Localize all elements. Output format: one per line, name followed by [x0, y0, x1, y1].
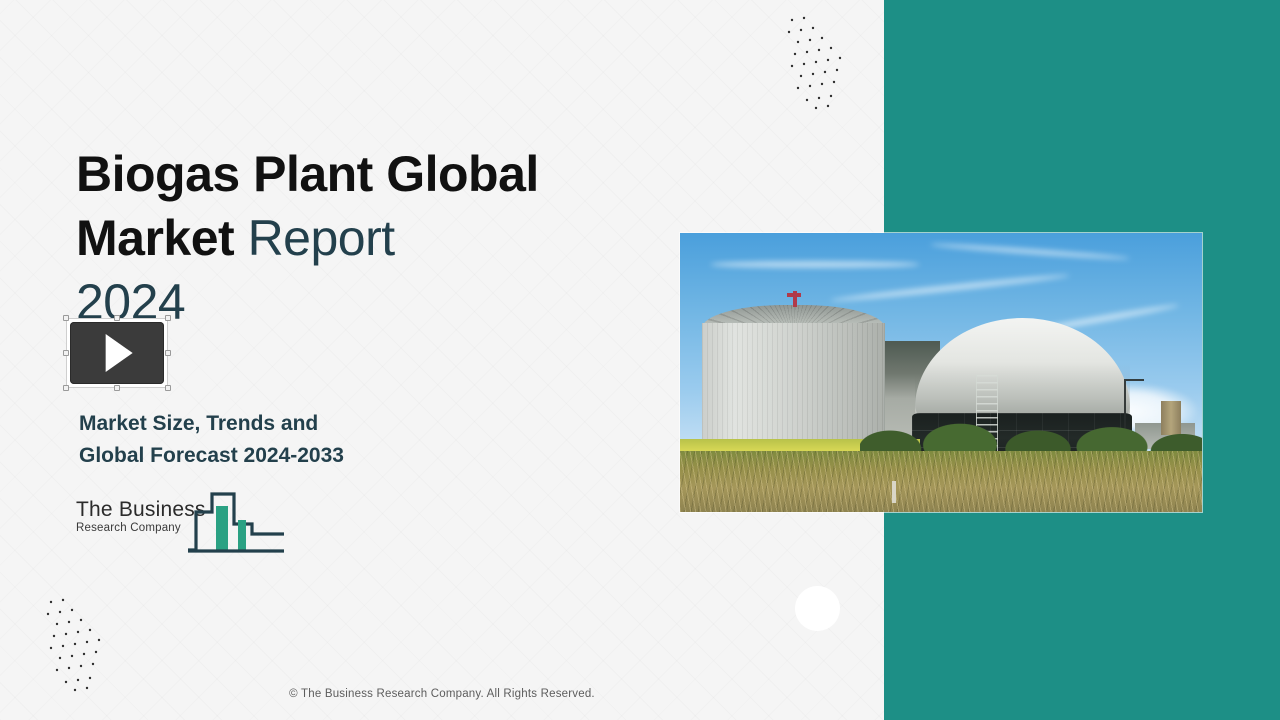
video-placeholder[interactable] [66, 318, 168, 388]
resize-handle-top-left[interactable] [63, 315, 69, 321]
logo-bar-chart-icon [186, 490, 286, 561]
slide-content: Biogas Plant Global Market Report 2024 [0, 0, 884, 720]
resize-handle-bottom-left[interactable] [63, 385, 69, 391]
video-thumbnail[interactable] [70, 322, 164, 384]
title-text-bold-2: Market [76, 210, 248, 266]
subtitle-line-2: Global Forecast 2024-2033 [79, 440, 559, 472]
resize-handle-top-right[interactable] [165, 315, 171, 321]
copyright-footer: © The Business Research Company. All Rig… [0, 688, 884, 700]
subtitle-line-1: Market Size, Trends and [79, 408, 559, 440]
title-text-accent-1: Report [248, 210, 395, 266]
company-logo: The Business Research Company [76, 490, 286, 560]
title-line-2: Market Report [76, 206, 616, 270]
title-text-bold-1: Biogas Plant Global [76, 146, 539, 202]
title-line-1: Biogas Plant Global [76, 142, 616, 206]
resize-handle-middle-right[interactable] [165, 350, 171, 356]
resize-handle-top-center[interactable] [114, 315, 120, 321]
resize-handle-middle-left[interactable] [63, 350, 69, 356]
page-subtitle: Market Size, Trends and Global Forecast … [79, 408, 559, 472]
resize-handle-bottom-center[interactable] [114, 385, 120, 391]
photo-field-post [892, 481, 896, 503]
presentation-slide: Biogas Plant Global Market Report 2024 [0, 0, 1280, 720]
play-icon[interactable] [106, 334, 133, 372]
resize-handle-bottom-right[interactable] [165, 385, 171, 391]
page-title: Biogas Plant Global Market Report 2024 [76, 142, 616, 334]
